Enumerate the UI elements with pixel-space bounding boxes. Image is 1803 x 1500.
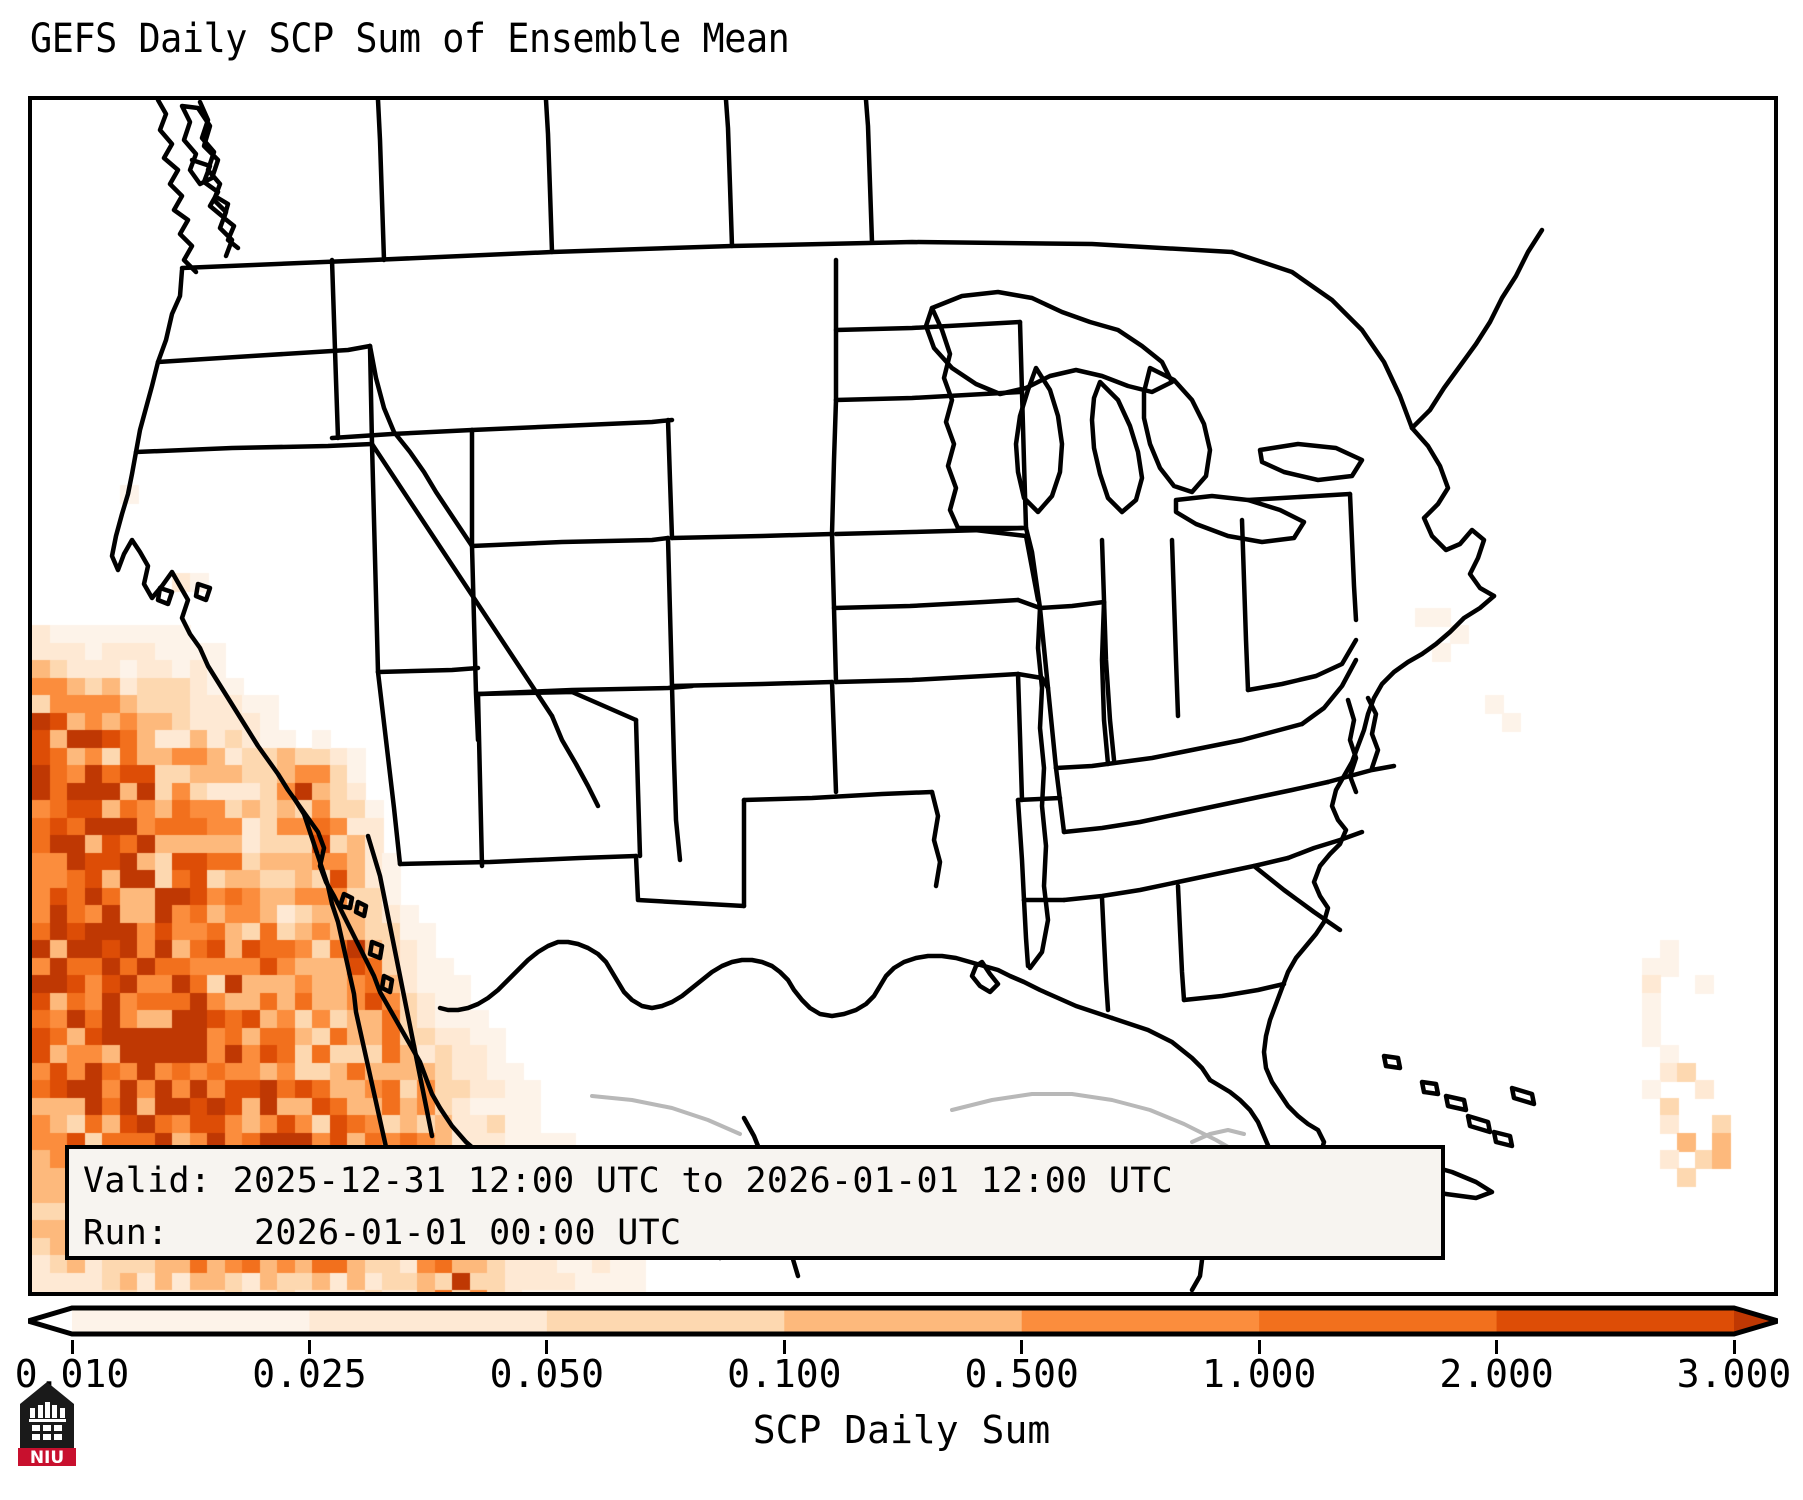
run-time-line: Run: 2026-01-01 00:00 UTC — [83, 1207, 1427, 1259]
geography-layer — [32, 100, 1774, 1292]
colorbar-tick-label: 0.500 — [965, 1352, 1079, 1396]
colorbar-tick-labels: 0.0100.0250.0500.1000.5001.0002.0003.000 — [0, 1352, 1803, 1396]
niu-logo: NIU — [16, 1378, 78, 1468]
colorbar-svg — [28, 1300, 1778, 1340]
niu-shield-icon: NIU — [16, 1378, 78, 1468]
map-canvas-area — [32, 100, 1774, 1292]
colorbar-tick-label: 0.100 — [727, 1352, 841, 1396]
map-panel: Valid: 2025-12-31 12:00 UTC to 2026-01-0… — [28, 96, 1778, 1296]
coastline-state-borders-svg — [32, 100, 1774, 1292]
colorbar-tick-label: 0.025 — [252, 1352, 366, 1396]
colorbar-tick-label: 0.050 — [490, 1352, 604, 1396]
page-title: GEFS Daily SCP Sum of Ensemble Mean — [30, 16, 789, 62]
colorbar — [28, 1300, 1778, 1340]
forecast-info-box: Valid: 2025-12-31 12:00 UTC to 2026-01-0… — [65, 1145, 1445, 1260]
colorbar-tick-label: 2.000 — [1439, 1352, 1553, 1396]
niu-logo-text: NIU — [30, 1448, 64, 1468]
colorbar-tick-label: 3.000 — [1677, 1352, 1791, 1396]
colorbar-tick-label: 1.000 — [1202, 1352, 1316, 1396]
valid-time-line: Valid: 2025-12-31 12:00 UTC to 2026-01-0… — [83, 1155, 1427, 1207]
colorbar-axis-label: SCP Daily Sum — [0, 1408, 1803, 1452]
